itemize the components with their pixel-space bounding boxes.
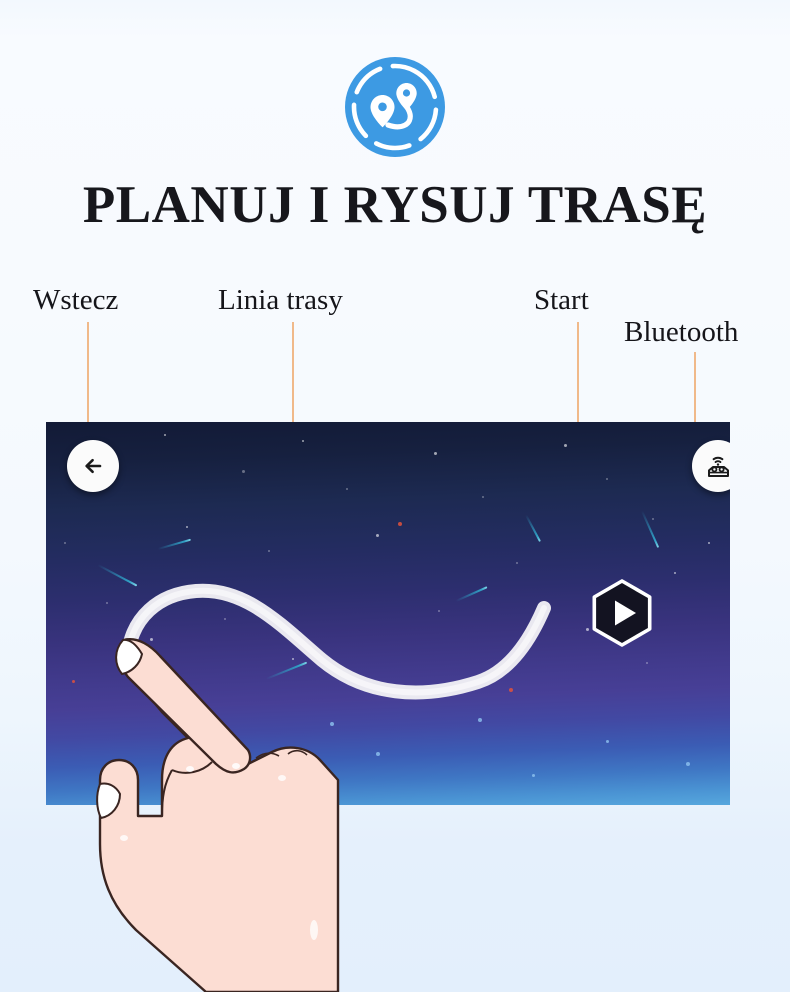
hand-illustration <box>76 630 386 992</box>
arrow-left-icon <box>80 453 106 479</box>
play-triangle-icon <box>588 579 656 647</box>
callout-label-back: Wstecz <box>33 286 118 315</box>
route-map-pins-icon <box>344 56 446 158</box>
app-logo <box>344 56 446 158</box>
callout-label-bluetooth: Bluetooth <box>624 318 738 347</box>
pointing-hand-icon <box>76 630 386 992</box>
back-button[interactable] <box>67 440 119 492</box>
page-title: PLANUJ I RYSUJ TRASĘ <box>0 178 790 234</box>
page-root: PLANUJ I RYSUJ TRASĘ Wstecz Linia trasy … <box>0 0 790 992</box>
callout-label-start: Start <box>534 286 589 315</box>
rc-car-signal-icon <box>702 450 730 482</box>
callout-label-route-line: Linia trasy <box>218 286 343 315</box>
start-button[interactable] <box>588 579 656 647</box>
